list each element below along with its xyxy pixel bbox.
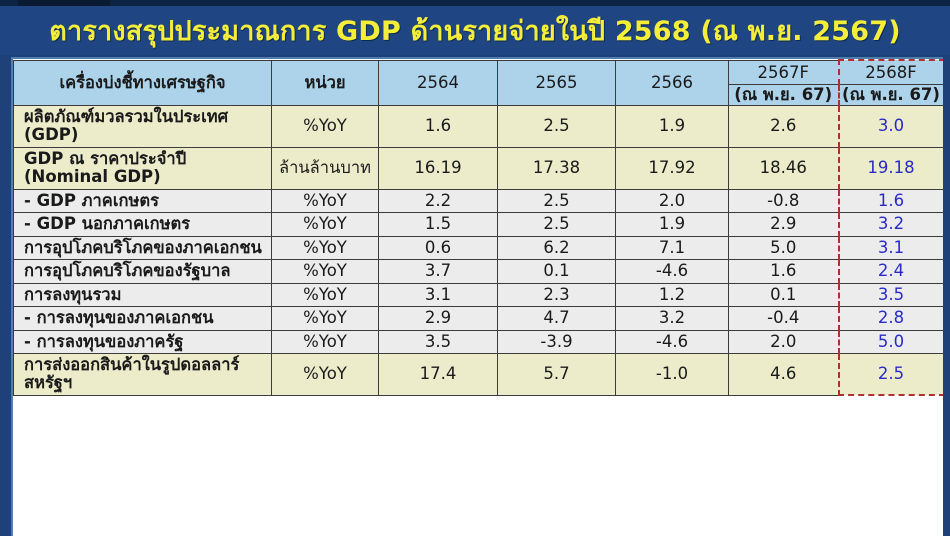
row-unit: %YoY xyxy=(272,213,379,236)
cell-2565: 6.2 xyxy=(498,236,616,259)
table-row: GDP ณ ราคาประจำปี (Nominal GDP) ล้านล้าน… xyxy=(14,147,944,189)
cell-2564: 1.6 xyxy=(379,105,498,147)
cell-2565: 2.3 xyxy=(498,283,616,306)
header-row-primary: เครื่องบ่งชี้ทางเศรษฐกิจ หน่วย 2564 2565… xyxy=(14,60,944,85)
table-row: การอุปโภคบริโภคของภาคเอกชน %YoY 0.6 6.2 … xyxy=(14,236,944,259)
gdp-summary-table: เครื่องบ่งชี้ทางเศรษฐกิจ หน่วย 2564 2565… xyxy=(13,59,943,396)
cell-2564: 3.5 xyxy=(379,330,498,353)
row-indicator-label: การอุปโภคบริโภคของภาคเอกชน xyxy=(14,236,272,259)
column-header-2567f: 2567F xyxy=(729,60,839,85)
row-unit: %YoY xyxy=(272,330,379,353)
row-unit: ล้านล้านบาท xyxy=(272,147,379,189)
row-unit: %YoY xyxy=(272,307,379,330)
slide-canvas: ตารางสรุปประมาณการ GDP ด้านรายจ่ายในปี 2… xyxy=(0,0,950,536)
table-body: ผลิตภัณฑ์มวลรวมในประเทศ (GDP) %YoY 1.6 2… xyxy=(14,105,944,395)
column-header-2566: 2566 xyxy=(616,60,729,105)
table-row: การลงทุนรวม %YoY 3.1 2.3 1.2 0.1 3.5 xyxy=(14,283,944,306)
row-indicator-label: การส่งออกสินค้าในรูปดอลลาร์สหรัฐฯ xyxy=(14,353,272,395)
cell-2567f: 2.6 xyxy=(729,105,839,147)
cell-2568f: 5.0 xyxy=(839,330,944,353)
cell-2565: 4.7 xyxy=(498,307,616,330)
row-indicator-label: - GDP นอกภาคเกษตร xyxy=(14,213,272,236)
cell-2566: 1.9 xyxy=(616,213,729,236)
row-unit: %YoY xyxy=(272,260,379,283)
cell-2566: 3.2 xyxy=(616,307,729,330)
cell-2567f: 1.6 xyxy=(729,260,839,283)
cell-2568f: 1.6 xyxy=(839,189,944,212)
cell-2566: 1.9 xyxy=(616,105,729,147)
cell-2564: 1.5 xyxy=(379,213,498,236)
row-unit: %YoY xyxy=(272,236,379,259)
cell-2565: 2.5 xyxy=(498,189,616,212)
cell-2566: 7.1 xyxy=(616,236,729,259)
slide-title-band: ตารางสรุปประมาณการ GDP ด้านรายจ่ายในปี 2… xyxy=(0,6,950,55)
cell-2567f: 0.1 xyxy=(729,283,839,306)
cell-2567f: 5.0 xyxy=(729,236,839,259)
column-subheader-2568f: (ณ พ.ย. 67) xyxy=(839,85,944,106)
cell-2566: -4.6 xyxy=(616,260,729,283)
cell-2565: 17.38 xyxy=(498,147,616,189)
row-unit: %YoY xyxy=(272,189,379,212)
row-indicator-label: การลงทุนรวม xyxy=(14,283,272,306)
cell-2564: 16.19 xyxy=(379,147,498,189)
cell-2565: 0.1 xyxy=(498,260,616,283)
cell-2566: -1.0 xyxy=(616,353,729,395)
column-subheader-2567f: (ณ พ.ย. 67) xyxy=(729,85,839,106)
cell-2565: 5.7 xyxy=(498,353,616,395)
cell-2568f: 2.8 xyxy=(839,307,944,330)
row-unit: %YoY xyxy=(272,353,379,395)
cell-2567f: -0.8 xyxy=(729,189,839,212)
cell-2565: -3.9 xyxy=(498,330,616,353)
table-row: ผลิตภัณฑ์มวลรวมในประเทศ (GDP) %YoY 1.6 2… xyxy=(14,105,944,147)
cell-2567f: 4.6 xyxy=(729,353,839,395)
cell-2566: 1.2 xyxy=(616,283,729,306)
cell-2564: 0.6 xyxy=(379,236,498,259)
row-indicator-label: GDP ณ ราคาประจำปี (Nominal GDP) xyxy=(14,147,272,189)
cell-2564: 3.1 xyxy=(379,283,498,306)
cell-2568f: 2.4 xyxy=(839,260,944,283)
table-row: การส่งออกสินค้าในรูปดอลลาร์สหรัฐฯ %YoY 1… xyxy=(14,353,944,395)
table-row: - การลงทุนของภาครัฐ %YoY 3.5 -3.9 -4.6 2… xyxy=(14,330,944,353)
cell-2568f: 19.18 xyxy=(839,147,944,189)
column-header-unit: หน่วย xyxy=(272,60,379,105)
cell-2565: 2.5 xyxy=(498,213,616,236)
cell-2564: 3.7 xyxy=(379,260,498,283)
cell-2566: 17.92 xyxy=(616,147,729,189)
cell-2567f: 2.0 xyxy=(729,330,839,353)
gdp-table-container: เครื่องบ่งชี้ทางเศรษฐกิจ หน่วย 2564 2565… xyxy=(11,57,943,536)
table-row: - GDP ภาคเกษตร %YoY 2.2 2.5 2.0 -0.8 1.6 xyxy=(14,189,944,212)
cell-2568f: 3.5 xyxy=(839,283,944,306)
cell-2564: 2.9 xyxy=(379,307,498,330)
cell-2568f: 3.0 xyxy=(839,105,944,147)
row-indicator-label: - การลงทุนของภาครัฐ xyxy=(14,330,272,353)
row-indicator-label: - GDP ภาคเกษตร xyxy=(14,189,272,212)
page-title: ตารางสรุปประมาณการ GDP ด้านรายจ่ายในปี 2… xyxy=(49,9,901,52)
cell-2566: 2.0 xyxy=(616,189,729,212)
row-indicator-label: การอุปโภคบริโภคของรัฐบาล xyxy=(14,260,272,283)
cell-2567f: -0.4 xyxy=(729,307,839,330)
table-header: เครื่องบ่งชี้ทางเศรษฐกิจ หน่วย 2564 2565… xyxy=(14,60,944,105)
table-row: การอุปโภคบริโภคของรัฐบาล %YoY 3.7 0.1 -4… xyxy=(14,260,944,283)
table-row: - การลงทุนของภาคเอกชน %YoY 2.9 4.7 3.2 -… xyxy=(14,307,944,330)
cell-2566: -4.6 xyxy=(616,330,729,353)
row-indicator-label: ผลิตภัณฑ์มวลรวมในประเทศ (GDP) xyxy=(14,105,272,147)
cell-2567f: 18.46 xyxy=(729,147,839,189)
table-row: - GDP นอกภาคเกษตร %YoY 1.5 2.5 1.9 2.9 3… xyxy=(14,213,944,236)
cell-2567f: 2.9 xyxy=(729,213,839,236)
cell-2568f: 3.2 xyxy=(839,213,944,236)
cell-2564: 2.2 xyxy=(379,189,498,212)
cell-2565: 2.5 xyxy=(498,105,616,147)
cell-2568f: 2.5 xyxy=(839,353,944,395)
column-header-2568f: 2568F xyxy=(839,60,944,85)
column-header-2565: 2565 xyxy=(498,60,616,105)
row-unit: %YoY xyxy=(272,105,379,147)
column-header-indicator: เครื่องบ่งชี้ทางเศรษฐกิจ xyxy=(14,60,272,105)
cell-2564: 17.4 xyxy=(379,353,498,395)
column-header-2564: 2564 xyxy=(379,60,498,105)
row-indicator-label: - การลงทุนของภาคเอกชน xyxy=(14,307,272,330)
cell-2568f: 3.1 xyxy=(839,236,944,259)
row-unit: %YoY xyxy=(272,283,379,306)
